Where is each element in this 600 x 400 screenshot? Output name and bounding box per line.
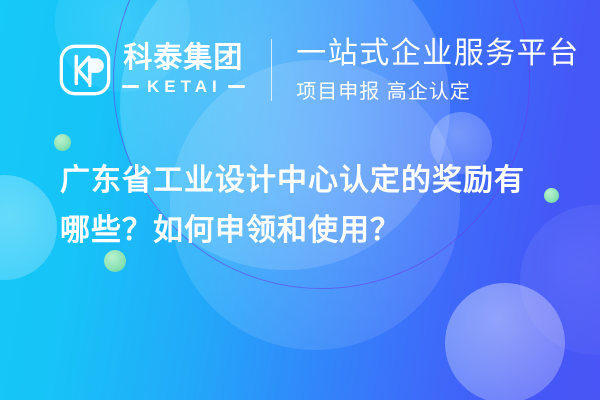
page-title-line-1: 广东省工业设计中心认定的奖励有 [60,156,560,206]
brand-logo[interactable]: 科泰集团 KETAI [56,41,245,99]
page-title: 广东省工业设计中心认定的奖励有 哪些？如何申领和使用？ [60,156,560,256]
page-title-line-2: 哪些？如何申领和使用？ [60,206,560,256]
brand-name-en: KETAI [147,77,222,97]
brand-name-en-row: KETAI [122,77,245,97]
brand-wordmark: 科泰集团 KETAI [122,43,245,96]
promo-banner: 科泰集团 KETAI 一站式企业服务平台 项目申报 高企认定 广东省工业设计中心… [0,0,600,400]
left-light-circle [0,175,57,280]
bottom-right-pale-circle [445,283,565,400]
banner-header: 科泰集团 KETAI 一站式企业服务平台 项目申报 高企认定 [0,0,600,140]
header-divider [271,39,273,101]
slogan-block: 一站式企业服务平台 项目申报 高企认定 [296,36,580,104]
wordmark-rule-left [122,85,139,88]
brand-name-cn: 科泰集团 [123,43,243,73]
slogan-secondary: 项目申报 高企认定 [296,75,580,104]
kp-diamond-logo-icon [56,41,114,99]
slogan-primary: 一站式企业服务平台 [296,36,580,71]
wordmark-rule-right [228,85,245,88]
